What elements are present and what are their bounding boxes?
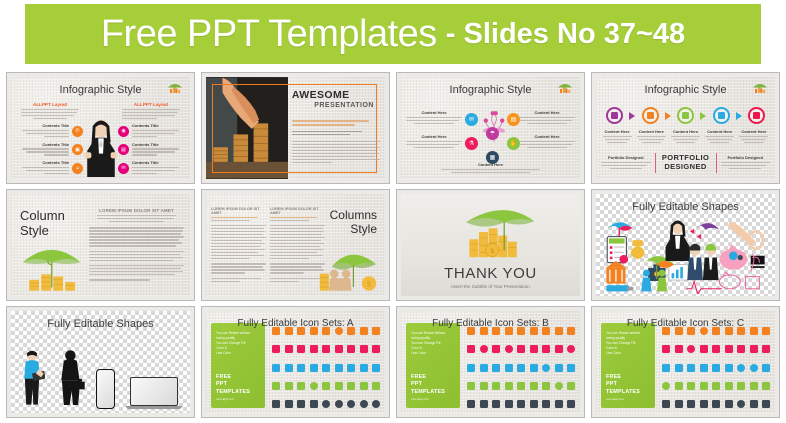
item-title: Contents Title (132, 123, 184, 128)
item-title: Contents Title (132, 160, 184, 165)
paragraph-1 (89, 227, 184, 246)
col-sub (211, 217, 266, 221)
icon-apple[interactable] (310, 364, 318, 372)
icon-puzzle[interactable] (285, 364, 293, 372)
banner-subtitle: - Slides No 37~48 (446, 18, 685, 51)
right-items: ◉ Contents Title ▤ Contents Title (118, 123, 184, 176)
icon-leaf[interactable] (762, 382, 770, 390)
step-label: Content Here (635, 129, 667, 145)
icon-ruler[interactable] (712, 382, 720, 390)
list-item[interactable]: ▤ Contents Title (118, 142, 184, 158)
arrow-icon (629, 112, 635, 120)
icon-window[interactable] (372, 364, 380, 372)
icon-ribbon[interactable] (372, 345, 380, 353)
icon-row (272, 400, 380, 408)
icon-plant[interactable] (750, 382, 758, 390)
step-node[interactable] (642, 107, 659, 124)
free-ppt-panel: You can Resize without losing quality Yo… (406, 323, 460, 408)
footer-right: Portfolio Designed (721, 155, 771, 171)
icon-volume[interactable] (662, 364, 670, 372)
slide-thumbnail-3[interactable]: Infographic Style ✉ ▤ (396, 72, 585, 184)
panel-top-text: You can Resize without losing quality Yo… (606, 331, 649, 356)
smartphone-illustration (96, 369, 115, 409)
icon-twitter[interactable] (505, 400, 513, 408)
slide-title-line1: AWESOME (292, 89, 380, 101)
icon-bag[interactable] (322, 382, 330, 390)
icon-face[interactable] (322, 400, 330, 408)
paragraph-2 (89, 251, 184, 261)
item-icon: ✉ (118, 163, 129, 174)
list-item[interactable]: Contents Title ☺ (17, 160, 83, 176)
right-heading: ALLPPT Layout (118, 102, 184, 107)
icon-person[interactable] (467, 382, 475, 390)
icon-bag[interactable] (360, 382, 368, 390)
right-paragraph (122, 109, 180, 119)
text-panel: AWESOME PRESENTATION (292, 89, 380, 173)
col-body (211, 225, 266, 259)
slide-title: Infographic Style (401, 84, 580, 96)
icon-facebook[interactable] (492, 400, 500, 408)
icon-phone[interactable] (322, 345, 330, 353)
icon-rain[interactable] (700, 400, 708, 408)
icon-share[interactable] (555, 364, 563, 372)
icon-unlock[interactable] (725, 345, 733, 353)
icon-anchor[interactable] (737, 382, 745, 390)
orange-subhead (292, 120, 380, 126)
icon-umbrella[interactable] (700, 345, 708, 353)
icon-dna[interactable] (555, 345, 563, 353)
icon-video[interactable] (675, 382, 683, 390)
icon-scanner[interactable] (285, 345, 293, 353)
icon-book[interactable] (347, 345, 355, 353)
node-label: Content Here (406, 134, 462, 139)
icon-pin[interactable] (542, 400, 550, 408)
icon-sun[interactable] (725, 400, 733, 408)
icon-image[interactable] (687, 382, 695, 390)
slide-thumbnail-8[interactable]: Fully Editable Shapes (591, 189, 780, 301)
icon-row (467, 400, 575, 408)
right-column: ALLPPT Layout ◉ Contents Title (118, 102, 184, 176)
icon-card[interactable] (505, 382, 513, 390)
slide-title: Fully Editable Shapes (596, 201, 775, 213)
icon-dollar[interactable] (530, 382, 538, 390)
icon-home[interactable] (725, 382, 733, 390)
icon-search[interactable] (347, 364, 355, 372)
panel-bottom-text: FREE PPT TEMPLATES www.allppt.com (216, 374, 250, 401)
icon-user[interactable] (567, 382, 575, 390)
icon-gear[interactable] (700, 382, 708, 390)
slide-title: Columns Style (330, 208, 377, 237)
icon-umbrella[interactable] (750, 400, 758, 408)
icon-pinterest[interactable] (480, 400, 488, 408)
label-bottom: Content Here (441, 162, 540, 175)
icon-drop[interactable] (762, 400, 770, 408)
icon-drop[interactable] (567, 400, 575, 408)
icon-bone-2[interactable] (542, 345, 550, 353)
slide-thumbnail-11[interactable]: Fully Editable Icon Sets: B You can Resi… (396, 306, 585, 418)
item-icon: ◉ (118, 126, 129, 137)
list-item[interactable]: ◉ Contents Title (118, 123, 184, 139)
icon-row (662, 364, 770, 372)
panel-bottom-text: FREE PPT TEMPLATES www.allppt.com (606, 374, 640, 401)
paragraph-3 (89, 265, 184, 275)
icon-rocket[interactable] (662, 345, 670, 353)
slide-thumbnail-6[interactable]: LOREM IPSUM DOLOR SIT AMET (201, 189, 390, 301)
icon-face[interactable] (360, 400, 368, 408)
icon-tool[interactable] (492, 382, 500, 390)
allppt-logo-icon (751, 81, 769, 95)
icon-row (662, 345, 770, 353)
banner-title: Free PPT Templates (101, 13, 437, 56)
step-node[interactable] (606, 107, 623, 124)
node-icon[interactable]: ☂ (486, 127, 499, 140)
icon-lock[interactable] (567, 364, 575, 372)
svg-text:$: $ (490, 248, 494, 255)
arrow-icon (700, 112, 706, 120)
left-items: Contents Title ✆ Contents Title ▣ (17, 123, 83, 176)
col-footer (211, 278, 266, 282)
icon-door[interactable] (467, 364, 475, 372)
icon-face[interactable] (372, 400, 380, 408)
laptop-illustration (126, 377, 182, 409)
icon-books[interactable] (272, 364, 280, 372)
arrow-icon (736, 112, 742, 120)
icon-snowflake[interactable] (480, 364, 488, 372)
businessman-illustration (56, 345, 86, 409)
icon-cloud[interactable] (542, 382, 550, 390)
icon-pen[interactable] (712, 345, 720, 353)
slide-thumbnail-5[interactable]: Column Style LOREM IPSUM DOLOR SIT AMET (6, 189, 195, 301)
node-label: Content Here (441, 162, 540, 167)
node-label: Content Here (519, 110, 575, 115)
label-left-bottom: Content Here (406, 134, 462, 150)
icon-lifebuoy[interactable] (687, 345, 695, 353)
footer-left: Portfolio Designed (601, 155, 651, 171)
list-item[interactable]: ✉ Contents Title (118, 160, 184, 176)
item-title: Contents Title (17, 123, 69, 128)
slide-title: Fully Editable Icon Sets: B (401, 318, 580, 329)
icon-row (272, 345, 380, 353)
slide-thumbnail-2[interactable]: AWESOME PRESENTATION (201, 72, 390, 184)
icon-target[interactable] (542, 364, 550, 372)
icon-hd[interactable] (687, 364, 695, 372)
icon-heart[interactable] (517, 382, 525, 390)
icon-shield[interactable] (517, 364, 525, 372)
icon-cloud-3[interactable] (687, 400, 695, 408)
item-title: Contents Title (132, 142, 184, 147)
svg-text:$: $ (367, 279, 371, 288)
slide-thumbnail-10[interactable]: Fully Editable Icon Sets: A You can Resi… (201, 306, 390, 418)
icon-head[interactable] (480, 345, 488, 353)
icon-cloud-2[interactable] (675, 400, 683, 408)
icon-film[interactable] (712, 364, 720, 372)
slide-title: Fully Editable Icon Sets: A (206, 318, 385, 329)
icon-row (467, 382, 575, 390)
icon-leaf[interactable] (530, 364, 538, 372)
arrow-icon (665, 112, 671, 120)
col-heading: LOREM IPSUM DOLOR SIT AMET (211, 207, 266, 215)
icon-head-bulb[interactable] (505, 345, 513, 353)
step-label: Content Here (601, 129, 633, 145)
icon-hd-2[interactable] (700, 364, 708, 372)
icon-stethoscope[interactable] (480, 382, 488, 390)
icon-home[interactable] (505, 364, 513, 372)
icon-row (467, 364, 575, 372)
icon-face[interactable] (335, 400, 343, 408)
icon-tablet[interactable] (310, 345, 318, 353)
paragraph-4 (89, 279, 184, 280)
icon-power[interactable] (737, 364, 745, 372)
editable-shapes-illustration (598, 214, 773, 294)
icon-at[interactable] (530, 400, 538, 408)
icon-grid (272, 327, 380, 408)
allppt-logo-icon (556, 81, 574, 95)
icon-battery[interactable] (675, 364, 683, 372)
icon-brain[interactable] (467, 345, 475, 353)
slide-title: Infographic Style (11, 84, 190, 96)
step-label: Content Here (669, 129, 701, 145)
body-sub (97, 215, 176, 222)
node-label: Content Here (406, 110, 462, 115)
icon-share[interactable] (517, 400, 525, 408)
icon-storm[interactable] (712, 400, 720, 408)
col-heading: LOREM IPSUM DOLOR SIT AMET (270, 207, 325, 215)
icon-row (662, 400, 770, 408)
icon-clock[interactable] (310, 382, 318, 390)
slide-thumbnail-9[interactable]: Fully Editable Shapes (6, 306, 195, 418)
icon-hand[interactable] (517, 345, 525, 353)
step-node[interactable] (677, 107, 694, 124)
list-item[interactable]: Contents Title ▣ (17, 142, 83, 158)
icon-bag[interactable] (335, 382, 343, 390)
person-with-laptop-illustration (19, 347, 45, 409)
icon-row (662, 382, 770, 390)
panel-bottom-text: FREE PPT TEMPLATES www.allppt.com (411, 374, 445, 401)
body-text: LOREM IPSUM DOLOR SIT AMET (89, 208, 184, 282)
icon-cross[interactable] (567, 345, 575, 353)
slide-thumbnail-7[interactable]: $ THANK YOU Insert the Subtitle of Your … (396, 189, 585, 301)
icon-play[interactable] (662, 382, 670, 390)
step-node[interactable] (713, 107, 730, 124)
icon-row (467, 345, 575, 353)
label-right-bottom: Content Here (519, 134, 575, 150)
list-item[interactable]: Contents Title ✆ (17, 123, 83, 139)
icon-moon[interactable] (737, 400, 745, 408)
icon-shirt[interactable] (285, 382, 293, 390)
text-column-1: LOREM IPSUM DOLOR SIT AMET (211, 207, 266, 284)
icon-tag[interactable] (360, 345, 368, 353)
slide-grid: Infographic Style ALLPPT Layout (6, 72, 780, 418)
icon-scissors[interactable] (750, 345, 758, 353)
node-icon[interactable]: ✉ (465, 113, 478, 126)
icon-car[interactable] (762, 345, 770, 353)
icon-bottle[interactable] (297, 382, 305, 390)
allppt-logo-icon (166, 81, 184, 95)
icon-pencil[interactable] (310, 400, 318, 408)
icon-checklist[interactable] (272, 382, 280, 390)
gray-subhead (292, 131, 380, 135)
icon-music[interactable] (297, 364, 305, 372)
free-ppt-panel: You can Resize without losing quality Yo… (211, 323, 265, 408)
icon-face[interactable] (347, 400, 355, 408)
icon-row (272, 382, 380, 390)
item-title: Contents Title (17, 142, 69, 147)
body-heading: LOREM IPSUM DOLOR SIT AMET (89, 208, 184, 213)
col-sub (270, 217, 325, 221)
left-paragraph (21, 109, 79, 119)
icon-cloud[interactable] (662, 400, 670, 408)
step-row (606, 107, 765, 124)
icon-cloud[interactable] (335, 364, 343, 372)
icon-briefcase[interactable] (737, 345, 745, 353)
slide-thumbnail-4[interactable]: Infographic Style (591, 72, 780, 184)
panel-top-text: You can Resize without losing quality Yo… (411, 331, 454, 356)
panel-top-text: You can Resize without losing quality Yo… (216, 331, 259, 356)
slide-title: Infographic Style (596, 84, 775, 96)
icon-bag[interactable] (372, 382, 380, 390)
slide-thumbnail-1[interactable]: Infographic Style ALLPPT Layout (6, 72, 195, 184)
icon-bone[interactable] (530, 345, 538, 353)
label-left-top: Content Here (406, 110, 462, 126)
icon-head-gear[interactable] (492, 345, 500, 353)
icon-palette[interactable] (322, 364, 330, 372)
icon-grid (662, 327, 770, 408)
header-banner: Free PPT Templates - Slides No 37~48 (25, 4, 761, 64)
icon-grid (467, 327, 575, 408)
body-paragraph (292, 141, 380, 163)
free-ppt-panel: You can Resize without losing quality Yo… (601, 323, 655, 408)
icon-phone[interactable] (725, 364, 733, 372)
icon-row (272, 364, 380, 372)
slide-subtitle: Insert the Subtitle of Your Presentation (401, 284, 580, 289)
slide-thumbnail-12[interactable]: Fully Editable Icon Sets: C You can Resi… (591, 306, 780, 418)
icon-clock[interactable] (555, 382, 563, 390)
step-node[interactable] (748, 107, 765, 124)
footer-center: PORTFOLIO DESIGNED (660, 154, 712, 171)
icon-linkedin[interactable] (467, 400, 475, 408)
icon-lock[interactable] (675, 345, 683, 353)
umbrella-coins-illustration: $ (443, 202, 539, 268)
step-label: Content Here (738, 129, 770, 145)
icon-medal[interactable] (272, 400, 280, 408)
icon-monitor[interactable] (297, 345, 305, 353)
icon-bag[interactable] (347, 382, 355, 390)
left-column: ALLPPT Layout Contents Title ✆ (17, 102, 83, 176)
devices-row (19, 333, 182, 409)
preview-page: Free PPT Templates - Slides No 37~48 Inf… (0, 0, 786, 423)
icon-grid[interactable] (360, 364, 368, 372)
icon-printer[interactable] (272, 345, 280, 353)
icon-trophy[interactable] (297, 400, 305, 408)
node-label: Content Here (519, 134, 575, 139)
umbrella-coins-illustration (17, 234, 83, 294)
label-right-top: Content Here (519, 110, 575, 126)
step-labels: Content Here Content Here Content Here C… (601, 129, 770, 145)
umbrella-family-illustration: $ (309, 238, 381, 294)
icon-radiation[interactable] (750, 364, 758, 372)
icon-scale[interactable] (285, 400, 293, 408)
businesswoman-illustration (80, 115, 122, 177)
step-label: Content Here (704, 129, 736, 145)
slide-title: THANK YOU (401, 265, 580, 282)
portfolio-footer: Portfolio Designed PORTFOLIO DESIGNED Po… (601, 153, 770, 173)
slide-title-line2: PRESENTATION (292, 102, 374, 109)
icon-wifi[interactable] (492, 364, 500, 372)
col-body-2 (211, 263, 266, 273)
slide-title: Fully Editable Shapes (11, 318, 190, 330)
slide-title: Fully Editable Icon Sets: C (596, 318, 775, 329)
icon-battery[interactable] (335, 345, 343, 353)
item-title: Contents Title (17, 160, 69, 165)
item-icon: ▤ (118, 144, 129, 155)
node-icon[interactable]: ⚗ (465, 137, 478, 150)
left-heading: ALLPPT Layout (17, 102, 83, 107)
icon-anchor[interactable] (555, 400, 563, 408)
icon-pin[interactable] (762, 364, 770, 372)
